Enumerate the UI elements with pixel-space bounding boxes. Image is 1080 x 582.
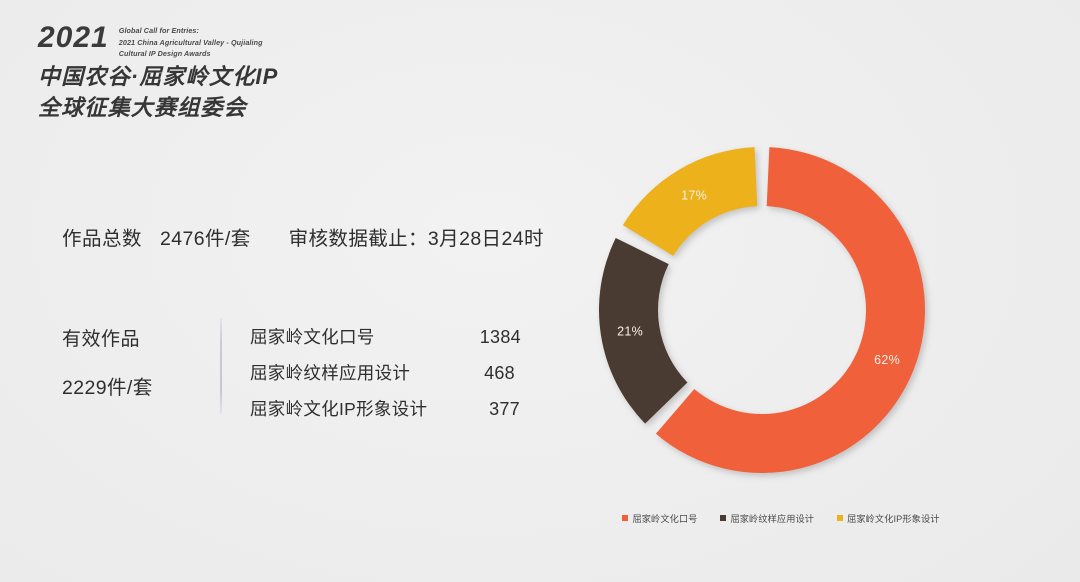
review-deadline-text: 审核数据截止：3月28日24时 (289, 222, 544, 251)
category-count: 468 (484, 363, 525, 384)
vertical-divider (220, 318, 222, 414)
donut-segments (599, 147, 925, 473)
category-count: 377 (489, 399, 525, 420)
header-english-subtitle: Global Call for Entries: 2021 China Agri… (119, 22, 263, 60)
donut-percent-label: 17% (681, 189, 707, 203)
donut-percent-label: 21% (617, 324, 643, 338)
donut-percent-label: 62% (874, 353, 900, 367)
chart-legend: 屈家岭文化口号 屈家岭纹样应用设计 屈家岭文化IP形象设计 (566, 511, 996, 525)
summary-stats-row: 作品总数 2476件/套 审核数据截止：3月28日24时 (62, 222, 544, 251)
header-chinese-line-2: 全球征集大赛组委会 (38, 92, 468, 123)
donut-chart-svg: 62%21%17% (566, 118, 996, 508)
header-year: 2021 (38, 22, 109, 54)
legend-swatch-icon (622, 515, 628, 521)
valid-works-label: 有效作品 (62, 330, 212, 349)
header-block: 2021 Global Call for Entries: 2021 China… (38, 22, 468, 123)
donut-segment[interactable] (599, 238, 687, 424)
valid-works-count: 2229件/套 (62, 379, 212, 399)
legend-label: 屈家岭文化口号 (632, 511, 697, 525)
header-top-row: 2021 Global Call for Entries: 2021 China… (38, 22, 468, 60)
donut-chart: 62%21%17% 屈家岭文化口号 屈家岭纹样应用设计 屈家岭文化IP形象设计 (566, 118, 996, 548)
list-item: 屈家岭文化口号 1384 (250, 324, 525, 349)
category-count: 1384 (480, 327, 525, 348)
category-name: 屈家岭文化IP形象设计 (250, 396, 427, 421)
legend-item-ip-image-design[interactable]: 屈家岭文化IP形象设计 (837, 511, 939, 525)
list-item: 屈家岭纹样应用设计 468 (250, 360, 525, 385)
category-name: 屈家岭纹样应用设计 (250, 360, 410, 385)
legend-item-pattern-design[interactable]: 屈家岭纹样应用设计 (720, 511, 814, 525)
total-works-label: 作品总数 (62, 222, 142, 251)
category-breakdown-list: 屈家岭文化口号 1384 屈家岭纹样应用设计 468 屈家岭文化IP形象设计 3… (250, 324, 525, 421)
legend-item-slogan[interactable]: 屈家岭文化口号 (622, 511, 697, 525)
slide-canvas: 2021 Global Call for Entries: 2021 China… (0, 0, 1080, 582)
list-item: 屈家岭文化IP形象设计 377 (250, 396, 525, 421)
legend-label: 屈家岭文化IP形象设计 (847, 511, 939, 525)
valid-works-block: 有效作品 2229件/套 (62, 330, 212, 399)
header-chinese-line-1: 中国农谷·屈家岭文化IP (38, 61, 468, 92)
legend-swatch-icon (720, 515, 726, 521)
total-works-value: 2476件/套 (160, 222, 251, 251)
legend-swatch-icon (837, 515, 843, 521)
category-name: 屈家岭文化口号 (250, 324, 375, 349)
legend-label: 屈家岭纹样应用设计 (730, 511, 814, 525)
